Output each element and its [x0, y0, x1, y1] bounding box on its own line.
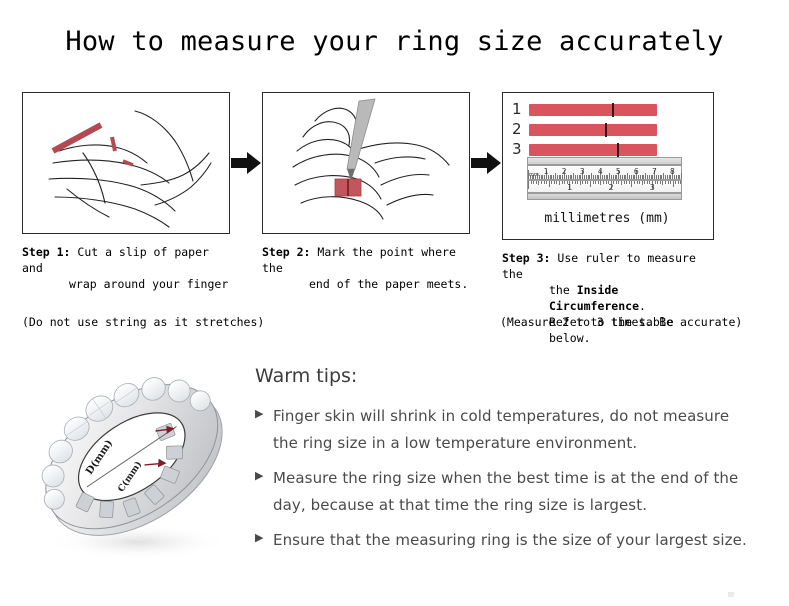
step-1-line2: wrap around your finger — [22, 276, 230, 292]
ruler-tick — [541, 181, 542, 184]
ruler-tick — [549, 181, 550, 187]
ruler-cm-label: 5 — [616, 168, 621, 176]
ruler-tick — [587, 181, 588, 184]
ruler-tick — [551, 175, 552, 179]
corner-artifact — [728, 592, 734, 597]
ruler-tick — [607, 175, 608, 179]
ruler-tick — [676, 175, 677, 179]
tip-text: Measure the ring size when the best time… — [273, 465, 755, 519]
ruler-tick — [680, 181, 681, 184]
step-1-column: Step 1: Cut a slip of paper and wrap aro… — [22, 92, 230, 292]
step-1-caption: Step 1: Cut a slip of paper and wrap aro… — [22, 244, 230, 292]
ruler-tick — [660, 175, 661, 179]
ruler-cm-label: 2 — [562, 168, 567, 176]
ruler-tick — [629, 181, 630, 184]
ruler-tick — [562, 181, 563, 184]
strip-row: 3 — [512, 142, 657, 157]
ruler-tick — [645, 173, 646, 179]
triangle-bullet-icon: ▶ — [255, 403, 273, 419]
ruler-tick — [662, 181, 663, 185]
ruler-tick — [670, 181, 671, 184]
ruler-tick — [640, 175, 641, 179]
step-1-note: (Do not use string as it stretches) — [22, 314, 264, 330]
step-2-caption: Step 2: Mark the point where the end of … — [262, 244, 470, 292]
ruler-tick — [626, 181, 627, 184]
ruler-tick — [609, 173, 610, 179]
ruler-tick — [647, 181, 648, 184]
ruler-cm-label: 8 — [670, 168, 675, 176]
ruler-tick — [663, 173, 664, 179]
ruler-tick — [556, 181, 557, 184]
ruler-centimetre-scale: 12345678mm — [527, 165, 682, 180]
tip-item: ▶ Measure the ring size when the best ti… — [255, 465, 755, 519]
steps-row: Step 1: Cut a slip of paper and wrap aro… — [0, 92, 789, 342]
ruler-tick — [616, 181, 617, 184]
ruler-tick — [536, 181, 537, 184]
step-3-column: 1 2 3 12345678mm 123 millimetres (mm) St… — [502, 92, 714, 346]
hand-with-paper-slip-icon — [23, 93, 230, 234]
ruler-tick — [553, 175, 554, 179]
ruler-tick — [593, 181, 594, 184]
ruler-inch-scale: 123 — [527, 180, 682, 193]
ruler-tick — [590, 181, 591, 187]
ruler-tick — [577, 181, 578, 184]
tip-text: Finger skin will shrink in cold temperat… — [273, 403, 755, 457]
ruler-tick — [681, 173, 682, 179]
ruler-inch-label: 1 — [567, 184, 572, 192]
ruler-tick — [573, 173, 574, 179]
ruler-cm-label: 3 — [580, 168, 585, 176]
ruler-tick — [642, 181, 643, 185]
strip-mark — [605, 123, 607, 137]
step-3-caption: Step 3: Use ruler to measure the the Ins… — [502, 250, 714, 346]
ruler-tick — [559, 175, 560, 179]
step-3-line2-post: . — [639, 299, 646, 313]
paper-strip — [529, 104, 657, 116]
step-1-lead: Step 1: — [22, 245, 70, 259]
ruler-tick — [546, 181, 547, 184]
ruler-tick — [644, 181, 645, 184]
ruler-tick — [588, 175, 589, 179]
ruler-tick — [551, 181, 552, 184]
ruler-tick — [575, 181, 576, 184]
warm-tips-section: Warm tips: ▶ Finger skin will shrink in … — [255, 365, 755, 562]
ruler-tick — [675, 181, 676, 184]
ruler-unit-caption: millimetres (mm) — [503, 211, 711, 226]
ruler-tick — [642, 175, 643, 179]
ruler-cm-label: 7 — [652, 168, 657, 176]
ruler-tick — [625, 175, 626, 179]
ruler-tick — [673, 181, 674, 187]
ruler-bottom-edge — [527, 193, 682, 200]
ruler-top-edge — [527, 157, 682, 165]
ruler-tick — [544, 181, 545, 184]
ruler-tick — [598, 181, 599, 184]
ruler-tick — [604, 175, 605, 179]
ruler-tick — [658, 175, 659, 179]
ring-illustration: D(mm) C(mm) — [18, 352, 250, 576]
ruler-tick — [606, 181, 607, 184]
triangle-bullet-icon: ▶ — [255, 465, 273, 481]
ruler-tick — [589, 175, 590, 179]
tip-item: ▶ Ensure that the measuring ring is the … — [255, 527, 755, 554]
paper-strip — [529, 124, 657, 136]
strip-row: 1 — [512, 102, 657, 117]
ruler-tick — [678, 175, 679, 179]
ruler-tick — [627, 173, 628, 179]
step-3-panel: 1 2 3 12345678mm 123 millimetres (mm) — [502, 92, 714, 240]
warm-tips-heading: Warm tips: — [255, 365, 755, 387]
strip-number: 3 — [512, 142, 529, 157]
ruler-tick — [582, 181, 583, 184]
ruler-tick — [580, 181, 581, 185]
hand-marking-paper-icon — [263, 93, 470, 234]
ruler-tick — [600, 181, 601, 185]
ruler-tick — [660, 181, 661, 184]
ruler-tick — [657, 181, 658, 184]
step-2-line2: end of the paper meets. — [262, 276, 470, 292]
ruler-tick — [570, 175, 571, 179]
ruler-tick — [577, 175, 578, 179]
ruler-tick — [665, 181, 666, 184]
ruler-tick — [621, 181, 622, 185]
ruler-tick — [538, 181, 539, 185]
ruler-tick — [629, 175, 630, 179]
ruler-cm-label: 1 — [544, 168, 549, 176]
ruler-tick — [571, 175, 572, 179]
ruler-tick — [678, 181, 679, 184]
ruler-tick — [595, 181, 596, 184]
ruler-tick — [554, 181, 555, 184]
strip-row: 2 — [512, 122, 657, 137]
tip-item: ▶ Finger skin will shrink in cold temper… — [255, 403, 755, 457]
ruler-tick — [631, 175, 632, 179]
ruler-tick — [661, 175, 662, 179]
ruler-tick — [667, 175, 668, 179]
ruler-cm-label: 6 — [634, 168, 639, 176]
ruler-tick — [595, 175, 596, 179]
step-2-panel — [262, 92, 470, 234]
arrow-right-icon-2 — [471, 150, 501, 176]
ruler-tick — [568, 175, 569, 179]
strip-mark — [617, 143, 619, 157]
ruler-tick — [586, 175, 587, 179]
step-2-lead: Step 2: — [262, 245, 310, 259]
triangle-bullet-icon: ▶ — [255, 527, 273, 543]
ruler-tick — [575, 175, 576, 179]
ruler-tick — [564, 181, 565, 184]
step-3-line2-pre: the — [549, 283, 577, 297]
ruler-tick — [618, 181, 619, 184]
ruler-tick — [557, 175, 558, 179]
ruler-tick — [603, 181, 604, 184]
ruler-tick — [647, 175, 648, 179]
step-3-lead: Step 3: — [502, 251, 550, 265]
ruler-tick — [555, 173, 556, 179]
ruler-tick — [593, 175, 594, 179]
ruler-tick — [606, 175, 607, 179]
tip-text: Ensure that the measuring ring is the si… — [273, 527, 747, 554]
step-1-panel — [22, 92, 230, 234]
page-title: How to measure your ring size accurately — [0, 26, 789, 57]
ruler-tick — [559, 181, 560, 185]
ruler-tick — [541, 175, 542, 179]
strip-mark — [612, 103, 614, 117]
ruler-tick — [643, 175, 644, 179]
ruler-tick — [634, 181, 635, 184]
ruler-tick — [622, 175, 623, 179]
ruler-tick — [624, 175, 625, 179]
paper-strip — [529, 144, 657, 156]
ruler-tick — [631, 181, 632, 187]
ruler-tick — [668, 181, 669, 184]
strip-number: 1 — [512, 102, 529, 117]
ruler-inch-label: 2 — [609, 184, 614, 192]
ruler-tick — [531, 181, 532, 184]
ruler-cm-label: 4 — [598, 168, 603, 176]
ruler-tick — [591, 173, 592, 179]
ruler-tick — [613, 175, 614, 179]
ruler-tick — [533, 181, 534, 184]
ruler-tick — [665, 175, 666, 179]
ruler-inch-label: 3 — [650, 184, 655, 192]
strip-number: 2 — [512, 122, 529, 137]
arrow-right-icon-1 — [231, 150, 261, 176]
ruler-tick — [637, 181, 638, 184]
ruler: 12345678mm 123 — [527, 157, 682, 201]
ruler-tick — [649, 175, 650, 179]
ruler-tick — [550, 175, 551, 179]
ruler-tick — [611, 175, 612, 179]
ruler-tick — [624, 181, 625, 184]
ruler-tick — [679, 175, 680, 179]
ruler-tick — [528, 181, 529, 189]
ruler-tick — [639, 181, 640, 184]
step-3-line2: the Inside Circumference. — [502, 282, 714, 314]
ruler-tick — [585, 181, 586, 184]
ruler-unit-abbrev: mm — [529, 173, 539, 178]
step-2-column: Step 2: Mark the point where the end of … — [262, 92, 470, 292]
step-3-note: (Measure 2 to 3 times. Be accurate) — [500, 314, 742, 330]
